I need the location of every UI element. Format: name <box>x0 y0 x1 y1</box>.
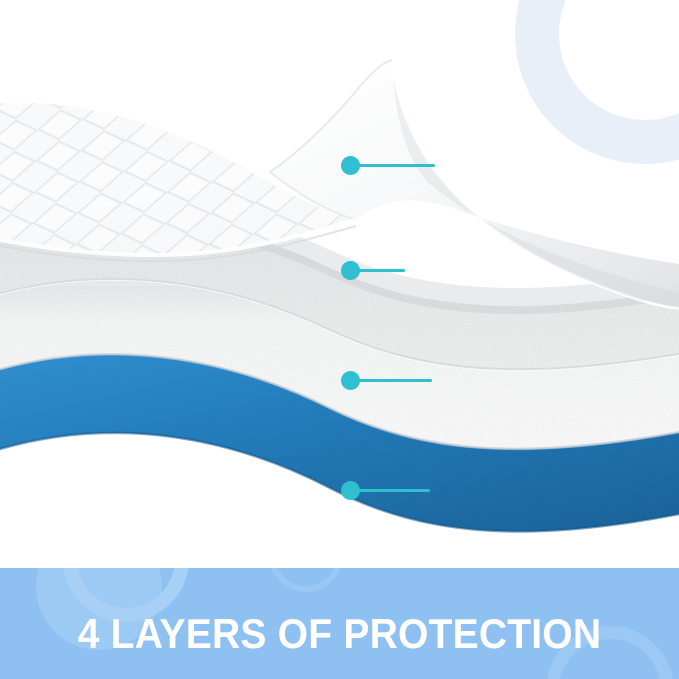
bottom-banner: 4 LAYERS OF PROTECTION <box>0 568 679 679</box>
callout-leader-line <box>350 489 430 492</box>
callout-leader-line <box>350 269 405 272</box>
callout-group: Quilted Surface Polyester Wadding Absorb… <box>0 0 679 568</box>
callout-leader-line <box>350 164 435 167</box>
callout-leader-line <box>350 379 432 382</box>
banner-title: 4 LAYERS OF PROTECTION <box>24 610 655 658</box>
product-infographic: Quilted Surface Polyester Wadding Absorb… <box>0 0 679 679</box>
banner-ring-decoration-center <box>269 568 343 592</box>
